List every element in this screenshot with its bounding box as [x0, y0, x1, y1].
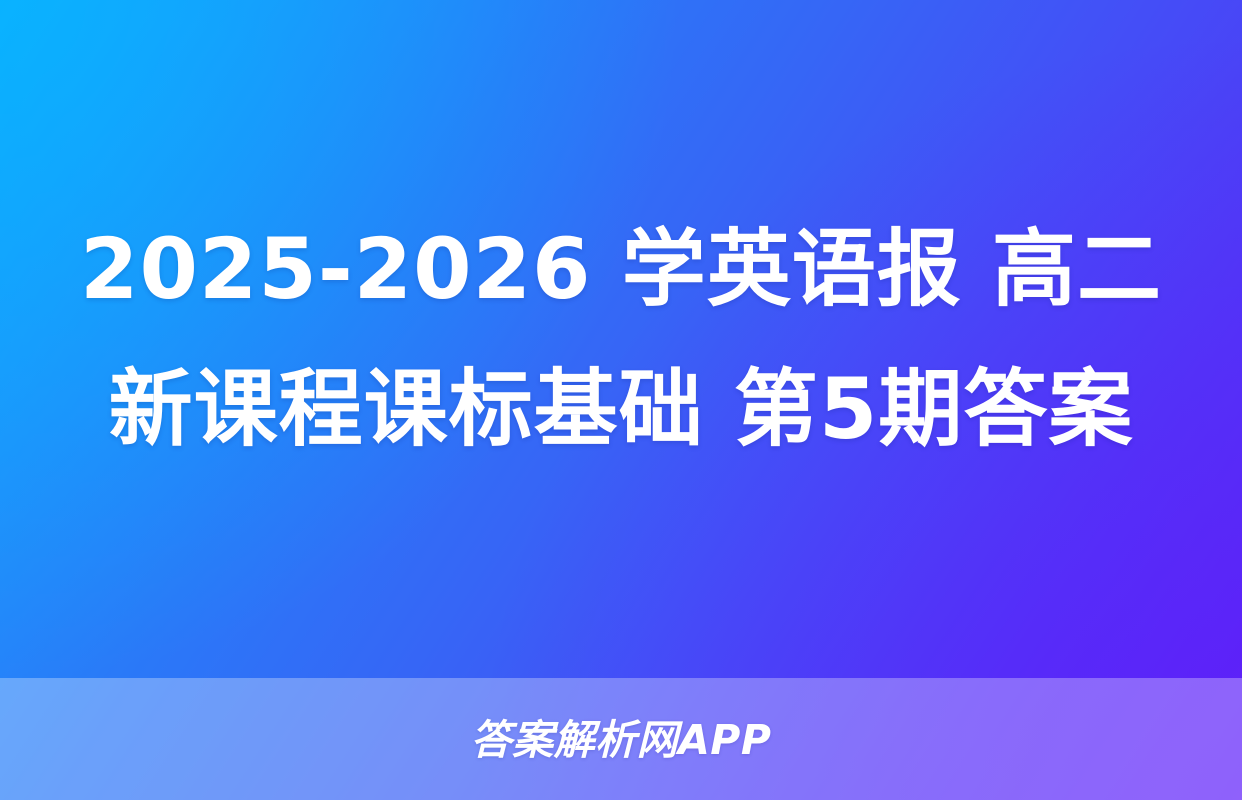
- answer-cover-card: 2025-2026 学英语报 高二 新课程课标基础 第5期答案 答案解析网APP: [0, 0, 1242, 800]
- watermark-band: 答案解析网APP: [0, 678, 1242, 800]
- page-title: 2025-2026 学英语报 高二 新课程课标基础 第5期答案: [46, 199, 1196, 479]
- app-watermark-label: 答案解析网APP: [471, 720, 772, 761]
- headline-region: 2025-2026 学英语报 高二 新课程课标基础 第5期答案: [0, 0, 1242, 678]
